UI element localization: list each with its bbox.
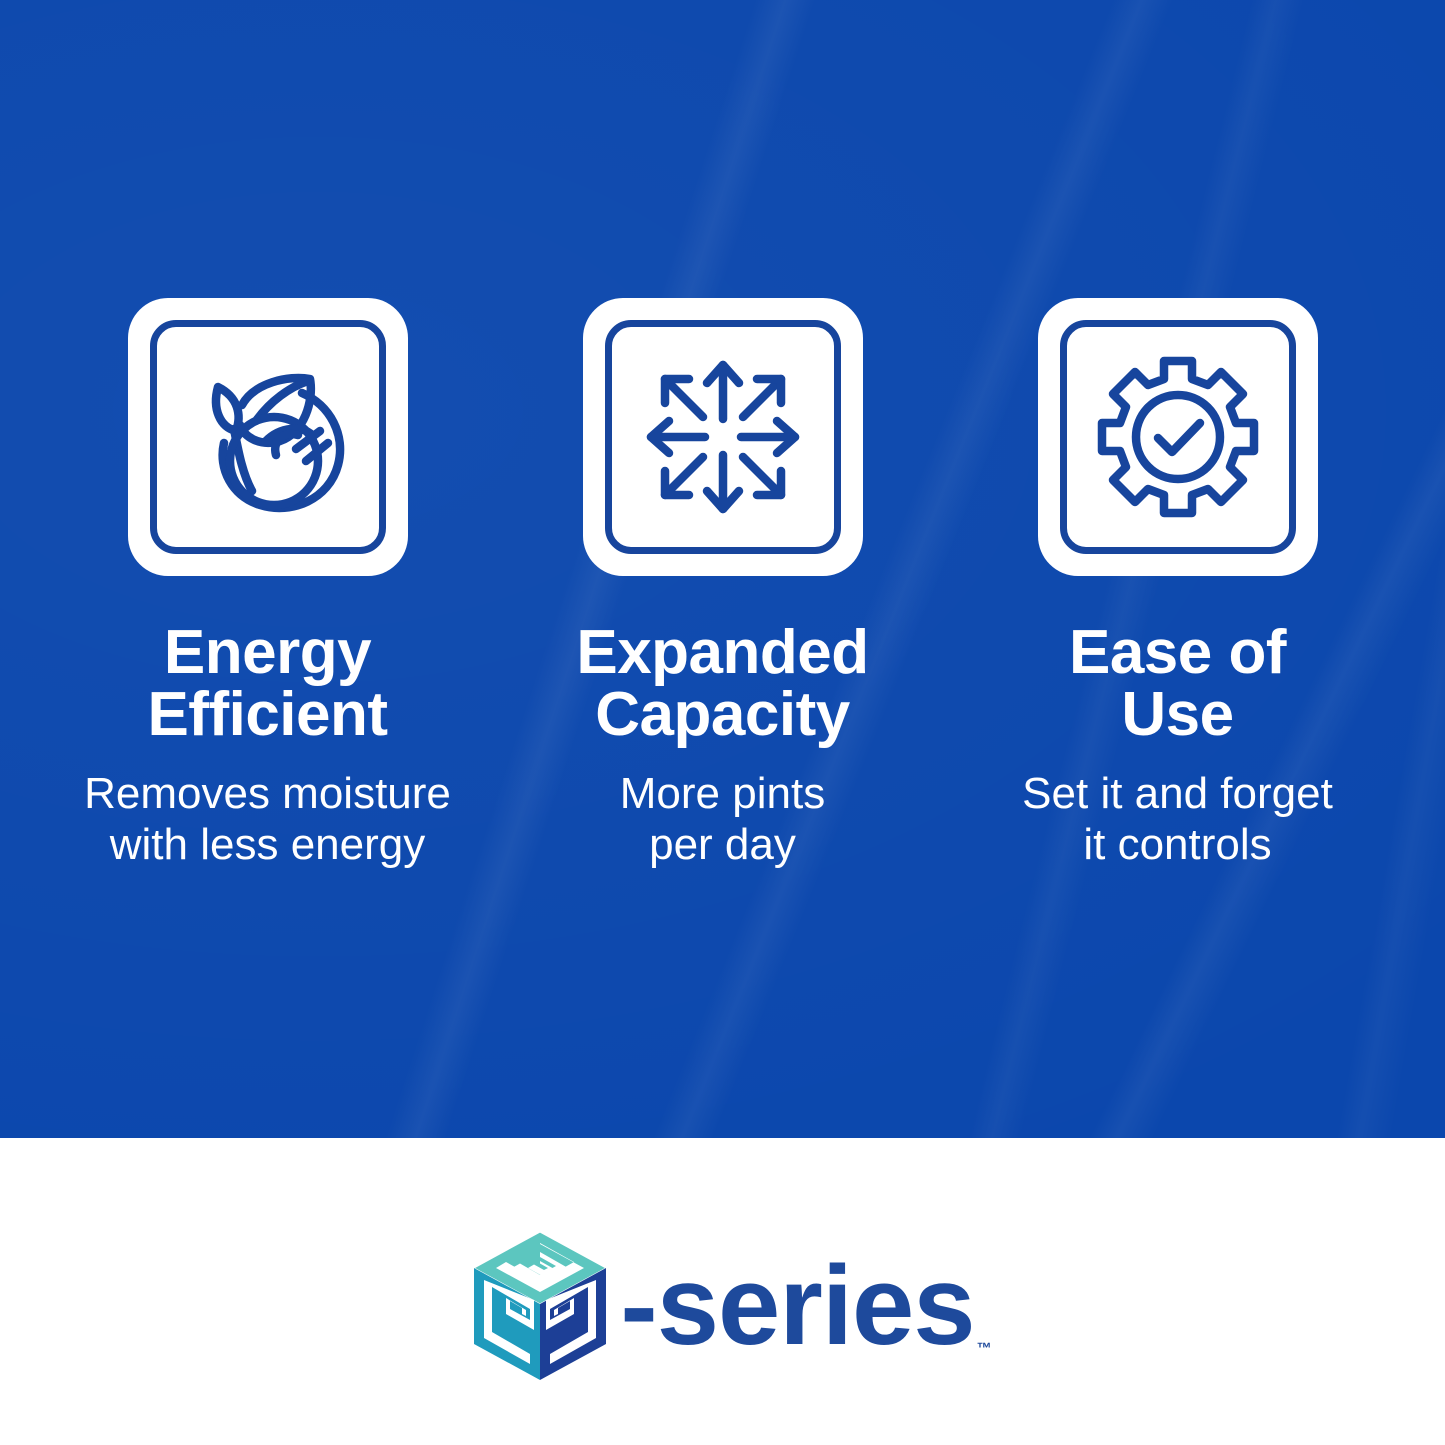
feature-subtitle: More pints per day (620, 768, 825, 870)
icon-card-expanded-capacity (583, 298, 863, 576)
e-series-logo: -series ™ (470, 1230, 974, 1382)
feature-energy-efficient: Energy Efficient Removes moisture with l… (40, 0, 495, 870)
footer-panel: -series ™ (0, 1138, 1445, 1445)
feature-title: Ease of Use (1069, 622, 1286, 746)
trademark-symbol: ™ (977, 1341, 991, 1356)
feature-title: Expanded Capacity (576, 622, 868, 746)
icon-frame (1060, 320, 1296, 554)
gear-check-icon (1090, 349, 1266, 525)
eco-energy-leaf-plug-icon (180, 349, 356, 525)
isometric-cube-e-icon (470, 1230, 610, 1382)
logo-wordmark: -series ™ (620, 1250, 974, 1362)
feature-subtitle: Set it and forget it controls (1022, 768, 1333, 870)
logo-wordmark-text: -series (620, 1243, 974, 1368)
feature-expanded-capacity: Expanded Capacity More pints per day (495, 0, 950, 870)
icon-frame (605, 320, 841, 554)
feature-title: Energy Efficient (147, 622, 387, 746)
icon-card-ease-of-use (1038, 298, 1318, 576)
feature-ease-of-use: Ease of Use Set it and forget it control… (950, 0, 1405, 870)
feature-row: Energy Efficient Removes moisture with l… (0, 0, 1445, 1138)
icon-card-energy-efficient (128, 298, 408, 576)
promo-graphic: Energy Efficient Removes moisture with l… (0, 0, 1445, 1445)
feature-subtitle: Removes moisture with less energy (84, 768, 451, 870)
icon-frame (150, 320, 386, 554)
expand-arrows-eight-directions-icon (635, 349, 811, 525)
